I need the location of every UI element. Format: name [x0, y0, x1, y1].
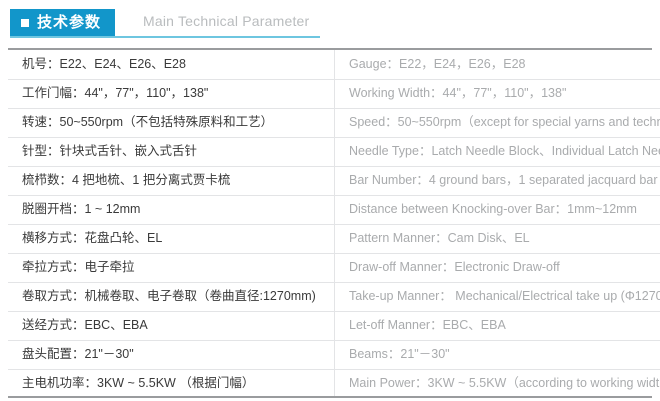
technical-parameter-table: 机号：E22、E24、E26、E28 Gauge：E22，E24，E26，E28…	[8, 50, 660, 398]
spec-en-cell: Distance between Knocking-over Bar：1mm~1…	[335, 195, 660, 224]
spec-cn-cell: 卷取方式：机械卷取、电子卷取（卷曲直径:1270mm)	[8, 282, 335, 311]
spec-en-cell: Beams：21"－30"	[335, 340, 660, 369]
section-title-tab: 技术参数	[10, 9, 115, 36]
spec-cn-cell: 机号：E22、E24、E26、E28	[8, 50, 335, 79]
spec-en-cell: Speed：50~550rpm（except for special yarns…	[335, 108, 660, 137]
table-row: 横移方式：花盘凸轮、EL Pattern Manner：Cam Disk、EL	[8, 224, 660, 253]
spec-cn-cell: 牵拉方式：电子牵拉	[8, 253, 335, 282]
spec-en-cell: Working Width：44"，77"，110"，138"	[335, 79, 660, 108]
square-bullet-icon	[21, 19, 29, 27]
section-title-cn: 技术参数	[37, 15, 101, 30]
spec-cn-cell: 针型：针块式舌针、嵌入式舌针	[8, 137, 335, 166]
spec-en-cell: Pattern Manner：Cam Disk、EL	[335, 224, 660, 253]
section-header: 技术参数 Main Technical Parameter	[0, 0, 660, 50]
table-bottom-border	[8, 396, 652, 398]
spec-cn-cell: 送经方式：EBC、EBA	[8, 311, 335, 340]
spec-en-cell: Needle Type：Latch Needle Block、Individua…	[335, 137, 660, 166]
table-body: 机号：E22、E24、E26、E28 Gauge：E22，E24，E26，E28…	[8, 50, 660, 398]
table-row: 主电机功率：3KW ~ 5.5KW （根据门幅） Main Power：3KW …	[8, 369, 660, 398]
table-row: 牵拉方式：电子牵拉 Draw-off Manner：Electronic Dra…	[8, 253, 660, 282]
spec-en-cell: Take-up Manner： Mechanical/Electrical ta…	[335, 282, 660, 311]
table-row: 针型：针块式舌针、嵌入式舌针 Needle Type：Latch Needle …	[8, 137, 660, 166]
spec-en-cell: Gauge：E22，E24，E26，E28	[335, 50, 660, 79]
table-row: 工作门幅：44"，77"，110"，138" Working Width：44"…	[8, 79, 660, 108]
spec-en-cell: Let-off Manner：EBC、EBA	[335, 311, 660, 340]
table-row: 机号：E22、E24、E26、E28 Gauge：E22，E24，E26，E28	[8, 50, 660, 79]
header-underline	[10, 36, 320, 38]
spec-cn-cell: 转速：50~550rpm（不包括特殊原料和工艺）	[8, 108, 335, 137]
spec-cn-cell: 工作门幅：44"，77"，110"，138"	[8, 79, 335, 108]
spec-en-cell: Bar Number：4 ground bars，1 separated jac…	[335, 166, 660, 195]
table-row: 送经方式：EBC、EBA Let-off Manner：EBC、EBA	[8, 311, 660, 340]
table-row: 脱圈开档：1 ~ 12mm Distance between Knocking-…	[8, 195, 660, 224]
spec-cn-cell: 主电机功率：3KW ~ 5.5KW （根据门幅）	[8, 369, 335, 398]
table-row: 转速：50~550rpm（不包括特殊原料和工艺） Speed：50~550rpm…	[8, 108, 660, 137]
spec-cn-cell: 盘头配置：21"－30"	[8, 340, 335, 369]
spec-en-cell: Draw-off Manner：Electronic Draw-off	[335, 253, 660, 282]
table-row: 梳栉数：4 把地梳、1 把分离式贾卡梳 Bar Number：4 ground …	[8, 166, 660, 195]
section-title-en: Main Technical Parameter	[143, 13, 309, 29]
spec-en-cell: Main Power：3KW ~ 5.5KW（according to work…	[335, 369, 660, 398]
spec-cn-cell: 脱圈开档：1 ~ 12mm	[8, 195, 335, 224]
table-row: 盘头配置：21"－30" Beams：21"－30"	[8, 340, 660, 369]
spec-cn-cell: 横移方式：花盘凸轮、EL	[8, 224, 335, 253]
spec-cn-cell: 梳栉数：4 把地梳、1 把分离式贾卡梳	[8, 166, 335, 195]
table-row: 卷取方式：机械卷取、电子卷取（卷曲直径:1270mm) Take-up Mann…	[8, 282, 660, 311]
